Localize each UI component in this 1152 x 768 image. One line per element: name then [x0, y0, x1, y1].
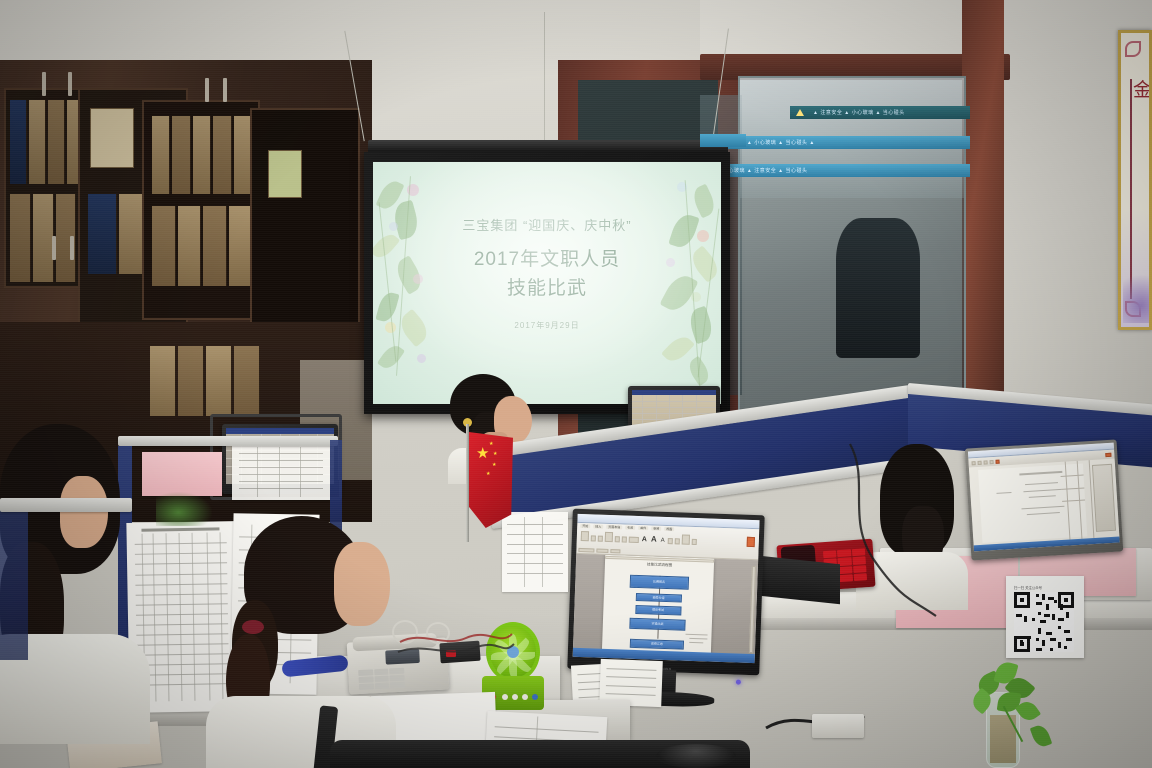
pothos-plant [952, 648, 1062, 768]
flow-box-3: 理论考试 [635, 605, 681, 615]
safety-strip-1: ▲ 注意安全 ▲ 小心玻璃 ▲ 当心碰头 [790, 106, 970, 119]
small-plant-left [156, 492, 212, 526]
certificate-glyph: 金 [1133, 75, 1152, 102]
flow-box-2: 抽签分组 [635, 593, 681, 603]
photo-scene: ▲ 注意安全 ▲ 小心玻璃 ▲ 当心碰头 注意安全 ▲ 小心玻璃 ▲ 当心碰头 … [0, 0, 1152, 768]
framed-certificate: 金 [1118, 30, 1152, 330]
flow-box-1: 比赛报名 [629, 574, 688, 589]
pinned-report-3 [502, 512, 568, 592]
front-center-monitor-screen: 开始插入 页面布局引用 邮件审阅 视图 A A A [573, 514, 760, 663]
qr-code-sheet: 扫一扫 关注公众号 [1006, 576, 1084, 658]
qr-caption: 扫一扫 关注公众号 [1014, 585, 1076, 590]
qr-code [1014, 592, 1074, 652]
person-center-foreground [196, 516, 386, 768]
partition-left-top-rail [118, 436, 338, 446]
presentation-slide: 三宝集团 “迎国庆、庆中秋” 2017年文职人员 技能比武 2017年9月29日 [373, 162, 721, 404]
document-title: 技能比武流程图 [605, 561, 714, 570]
pinned-paper-table [232, 444, 330, 500]
screen-frame: 三宝集团 “迎国庆、庆中秋” 2017年文职人员 技能比武 2017年9月29日 [364, 152, 730, 414]
glass-partition: ▲ 注意安全 ▲ 小心玻璃 ▲ 当心碰头 注意安全 ▲ 小心玻璃 ▲ 当心碰头 … [738, 76, 966, 428]
document-page: 技能比武流程图 比赛报名 抽签分组 理论考试 实操比武 成绩汇总 [602, 555, 715, 662]
person-right [862, 440, 966, 600]
desk-tray-dark [760, 556, 840, 604]
mouse[interactable] [656, 744, 736, 768]
front-center-monitor[interactable]: 开始插入 页面布局引用 邮件审阅 视图 A A A [567, 509, 764, 676]
hair-tie [242, 620, 264, 634]
right-monitor[interactable] [965, 439, 1124, 560]
flow-box-4: 实操比武 [629, 618, 686, 631]
chinese-flag: ★ ★ ★ ★ ★ [469, 432, 513, 528]
pinned-paper-pink [142, 452, 222, 496]
safety-strip-3: 小心玻璃 ▲ 注意安全 ▲ 当心碰头 [700, 164, 970, 177]
flag-pole [466, 424, 469, 542]
right-monitor-screen [968, 443, 1120, 552]
word-canvas: 技能比武流程图 比赛报名 抽签分组 理论考试 实操比武 成绩汇总 [573, 554, 758, 663]
partition-far-left-rail [0, 498, 132, 512]
partition-far-left [0, 510, 28, 660]
safety-strip-edge [700, 134, 746, 147]
flow-box-5: 成绩汇总 [629, 639, 684, 649]
lanyard [281, 655, 348, 678]
door-frame-right [962, 0, 1004, 420]
desk-box [812, 714, 864, 738]
